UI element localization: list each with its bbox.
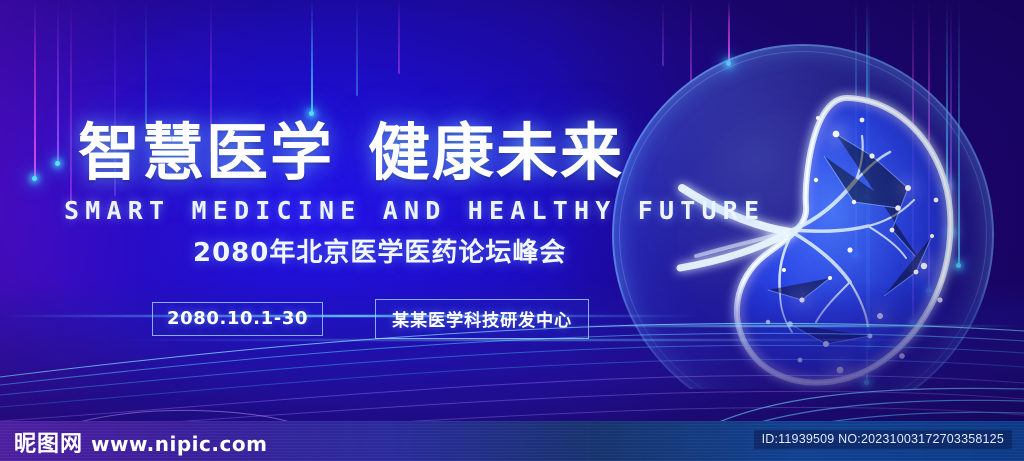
subtitle-english: SMART MEDICINE AND HEALTHY FUTURE (64, 196, 765, 225)
watermark-url: www.nipic.com (91, 432, 267, 456)
footer-watermark-bar: 昵图网 www.nipic.com ID:11939509 NO:2023100… (0, 421, 1024, 461)
poster-banner: 智慧医学健康未来 SMART MEDICINE AND HEALTHY FUTU… (0, 0, 1024, 461)
title-second: 健康未来 (368, 116, 624, 189)
subtitle-chinese: 2080年北京医学医药论坛峰会 (193, 232, 566, 269)
date-badge: 2080.10.1-30 (152, 302, 323, 336)
image-id-tag: ID:11939509 NO:20231003172703358125 (754, 430, 1012, 449)
page-title: 智慧医学健康未来 (78, 122, 624, 184)
watermark: 昵图网 www.nipic.com (14, 426, 267, 458)
watermark-logo-text: 昵图网 (14, 426, 83, 458)
badge-group: 2080.10.1-30 某某医学科技研发中心 (152, 299, 589, 339)
venue-badge: 某某医学科技研发中心 (375, 299, 589, 339)
title-main: 智慧医学 (78, 116, 334, 189)
poster-content: 智慧医学健康未来 SMART MEDICINE AND HEALTHY FUTU… (0, 0, 1024, 461)
